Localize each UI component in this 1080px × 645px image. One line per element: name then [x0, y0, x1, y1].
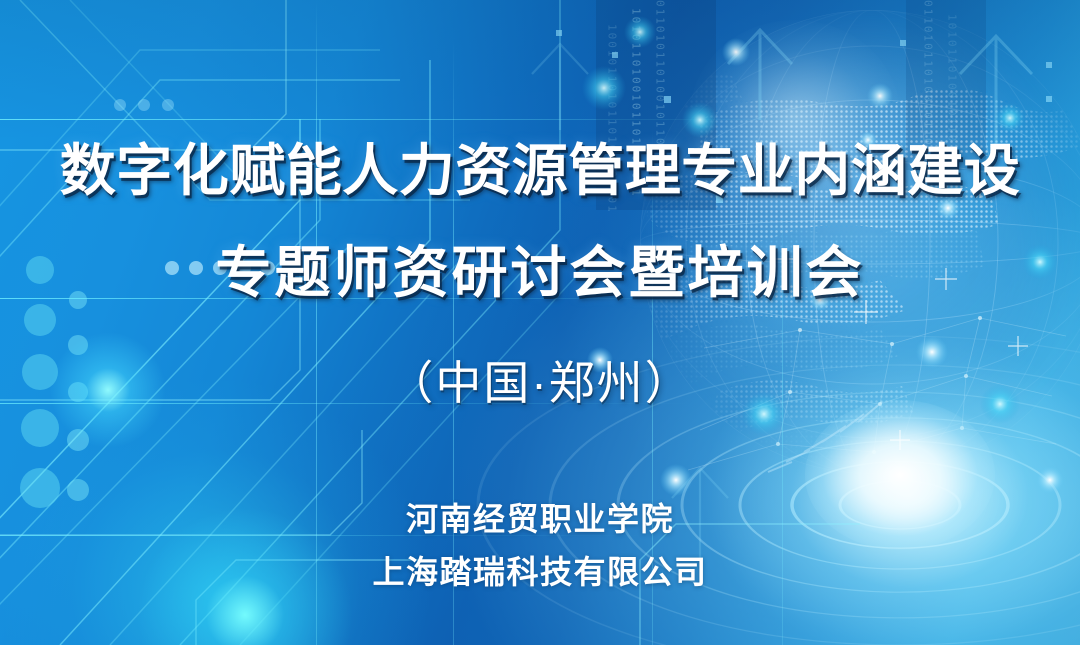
- organizer-line-2: 上海踏瑞科技有限公司: [0, 547, 1080, 593]
- banner-text-content: 数字化赋能人力资源管理专业内涵建设 专题师资研讨会暨培训会 （中国·郑州） 河南…: [0, 0, 1080, 645]
- conference-banner: 1010110100101101001011 01101011010010110…: [0, 0, 1080, 645]
- location-subtitle: （中国·郑州）: [0, 347, 1080, 413]
- page-title-line-1: 数字化赋能人力资源管理专业内涵建设: [0, 126, 1080, 207]
- organizer-line-1: 河南经贸职业学院: [0, 494, 1080, 540]
- page-title-line-2: 专题师资研讨会暨培训会: [0, 228, 1080, 309]
